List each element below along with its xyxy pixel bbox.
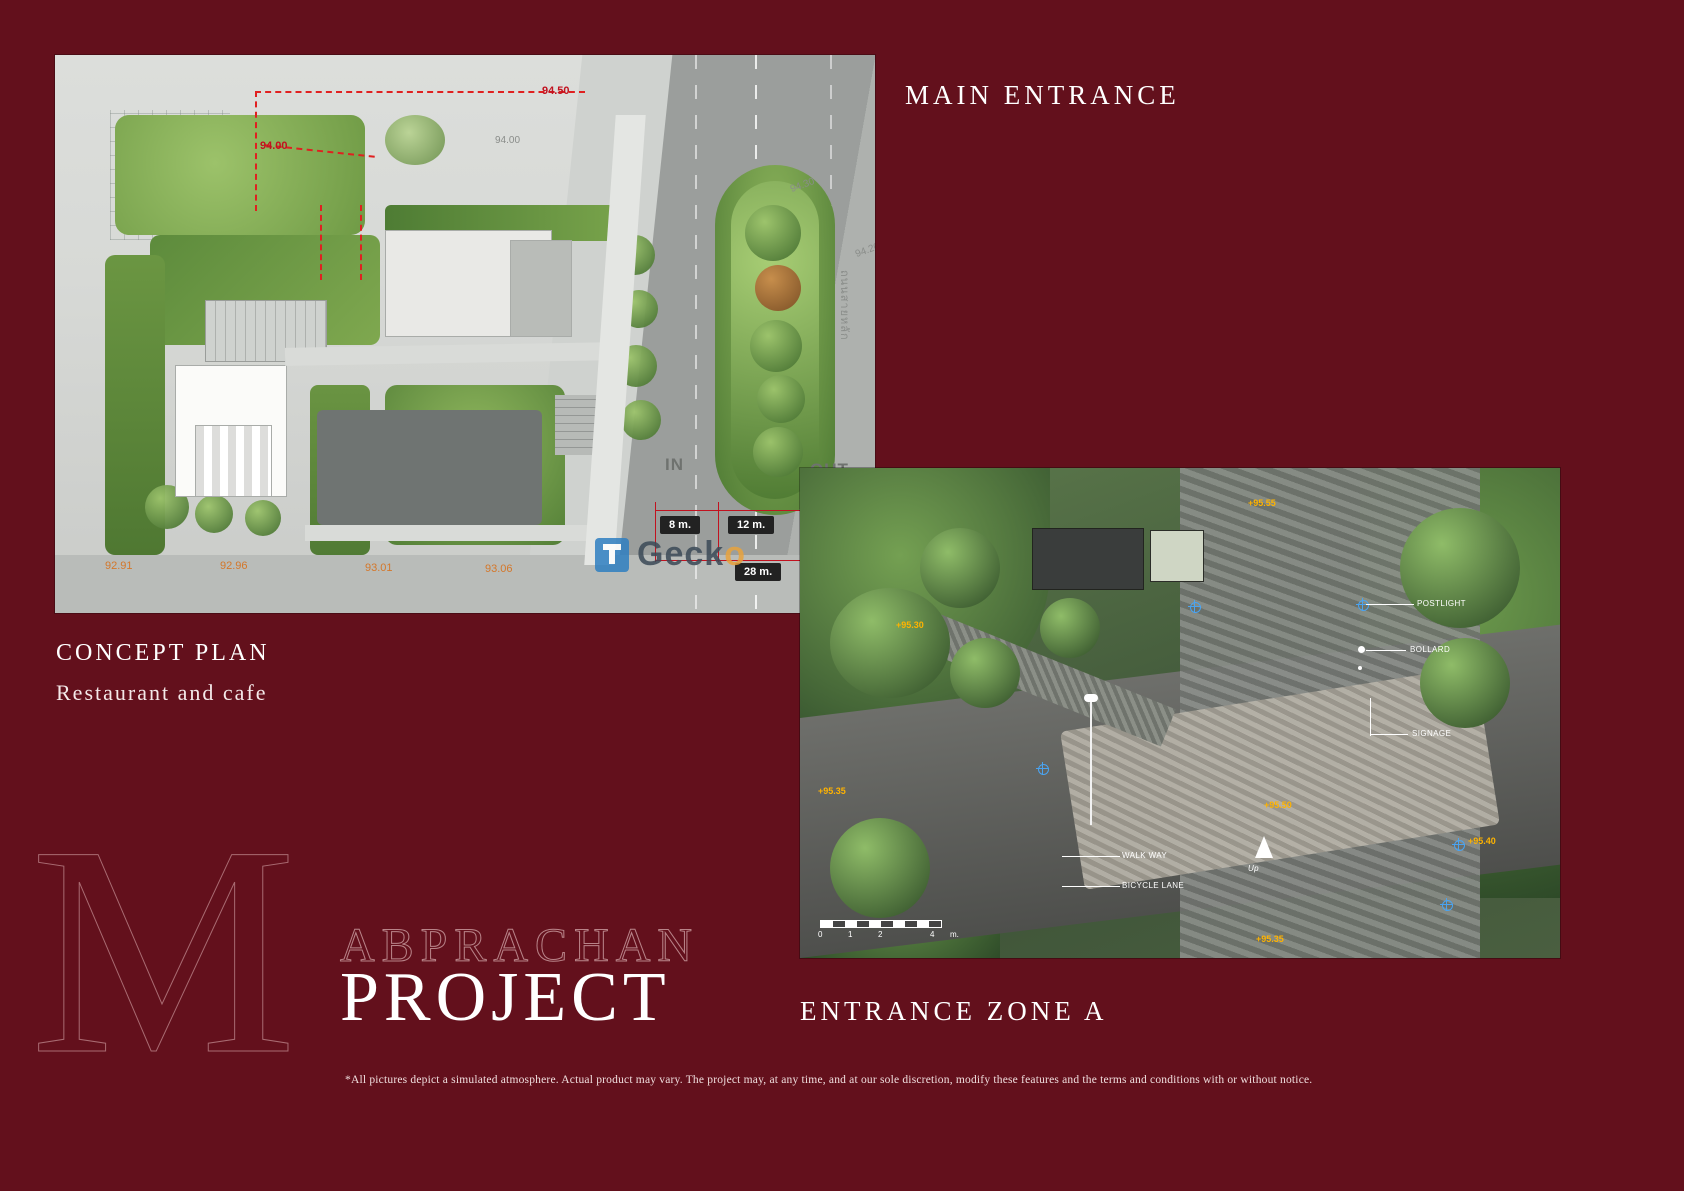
- tree-icon: [1400, 508, 1520, 628]
- elevation-label: +95.30: [896, 620, 924, 630]
- callout-leader: [1370, 698, 1371, 736]
- project-logo: M ABPRACHAN PROJECT: [30, 840, 790, 1070]
- elevation-label: +95.55: [1248, 498, 1276, 508]
- logo-project-word: PROJECT: [340, 958, 671, 1038]
- building-footprint: [195, 425, 272, 497]
- callout-leader: [1366, 604, 1414, 605]
- green-area: [115, 115, 365, 235]
- elevation-label: 94.00: [260, 140, 288, 152]
- boundary-line: [255, 91, 585, 93]
- house-icon: [595, 538, 629, 572]
- elevation-label: 94.50: [542, 85, 570, 97]
- grade-label: 92.91: [105, 560, 133, 572]
- elevation-label: +95.40: [1468, 836, 1496, 846]
- scale-tick-2: 2: [878, 930, 882, 939]
- boundary-line: [320, 205, 322, 280]
- watermark: Gecko: [595, 535, 746, 574]
- main-entrance-title: MAIN ENTRANCE: [905, 80, 1180, 111]
- tree-icon: [745, 205, 801, 261]
- callout-postlight: POSTLIGHT: [1417, 599, 1466, 608]
- scale-unit: m.: [950, 930, 959, 939]
- elevation-label: +95.35: [818, 786, 846, 796]
- tree-icon: [753, 427, 803, 477]
- tree-icon: [750, 320, 802, 372]
- boundary-line: [360, 205, 362, 280]
- logo-monogram: M: [30, 820, 297, 1080]
- tree-icon: [385, 115, 445, 165]
- callout-leader: [1370, 734, 1408, 735]
- survey-point-icon: [1452, 838, 1465, 851]
- direction-arrow: [1255, 836, 1273, 858]
- boundary-line: [255, 91, 257, 211]
- tree-icon: [920, 528, 1000, 608]
- drop-off-plaza: [317, 410, 542, 525]
- tree-icon: [755, 265, 801, 311]
- dimension-label: 12 m.: [728, 516, 774, 534]
- tree-icon: [830, 588, 950, 698]
- tree-icon: [950, 638, 1020, 708]
- concept-plan-title: CONCEPT PLAN: [56, 640, 270, 667]
- dimension-label: 8 m.: [660, 516, 700, 534]
- scale-bar: [820, 920, 942, 928]
- project-signage: [1150, 530, 1204, 582]
- entrance-zone-title: ENTRANCE ZONE A: [800, 996, 1107, 1027]
- light-pole-head: [1084, 694, 1098, 702]
- survey-point-icon: [1440, 898, 1453, 911]
- grade-label: 92.96: [220, 560, 248, 572]
- poster-page: 94.50 94.00 94.00 94.30 94.20 92.91 92.9…: [0, 0, 1684, 1191]
- bollard-marker: [1358, 646, 1365, 653]
- survey-point-icon: [1036, 762, 1049, 775]
- tree-icon: [621, 400, 661, 440]
- gatehouse-building: [1032, 528, 1144, 590]
- callout-bollard: BOLLARD: [1410, 645, 1450, 654]
- scale-tick-1: 1: [848, 930, 852, 939]
- scale-tick-4: 4: [930, 930, 934, 939]
- walkway: [305, 525, 605, 541]
- tree-icon: [1040, 598, 1100, 658]
- grade-label: 93.06: [485, 563, 513, 575]
- elevation-label: +95.35: [1256, 934, 1284, 944]
- elevation-label: +95.50: [1264, 800, 1292, 810]
- concept-plan-image: 94.50 94.00 94.00 94.30 94.20 92.91 92.9…: [55, 55, 875, 613]
- bollard-marker: [1358, 666, 1362, 670]
- elevation-label: 94.00: [495, 135, 520, 146]
- callout-up: Up: [1248, 864, 1259, 873]
- concept-plan-subtitle: Restaurant and cafe: [56, 680, 267, 706]
- tree-icon: [757, 375, 805, 423]
- building-footprint: [510, 240, 572, 337]
- disclaimer-text: *All pictures depict a simulated atmosph…: [345, 1074, 1655, 1086]
- callout-leader: [1366, 650, 1406, 651]
- callout-walkway: WALK WAY: [1122, 851, 1167, 860]
- survey-point-icon: [1188, 600, 1201, 613]
- entrance-zone-image: POSTLIGHT BOLLARD SIGNAGE WALK WAY BICYC…: [800, 468, 1560, 958]
- traffic-in-label: IN: [665, 455, 684, 475]
- road-name-label: ถนนสายหลัก: [835, 270, 853, 341]
- tree-icon: [195, 495, 233, 533]
- callout-leader: [1062, 856, 1120, 857]
- tree-icon: [830, 818, 930, 918]
- callout-signage: SIGNAGE: [1412, 729, 1451, 738]
- light-pole: [1090, 700, 1092, 825]
- grade-label: 93.01: [365, 562, 393, 574]
- callout-bicycle-lane: BICYCLE LANE: [1122, 881, 1184, 890]
- callout-leader: [1062, 886, 1120, 887]
- watermark-text: Gecko: [637, 535, 746, 574]
- tree-icon: [245, 500, 281, 536]
- scale-tick-0: 0: [818, 930, 822, 939]
